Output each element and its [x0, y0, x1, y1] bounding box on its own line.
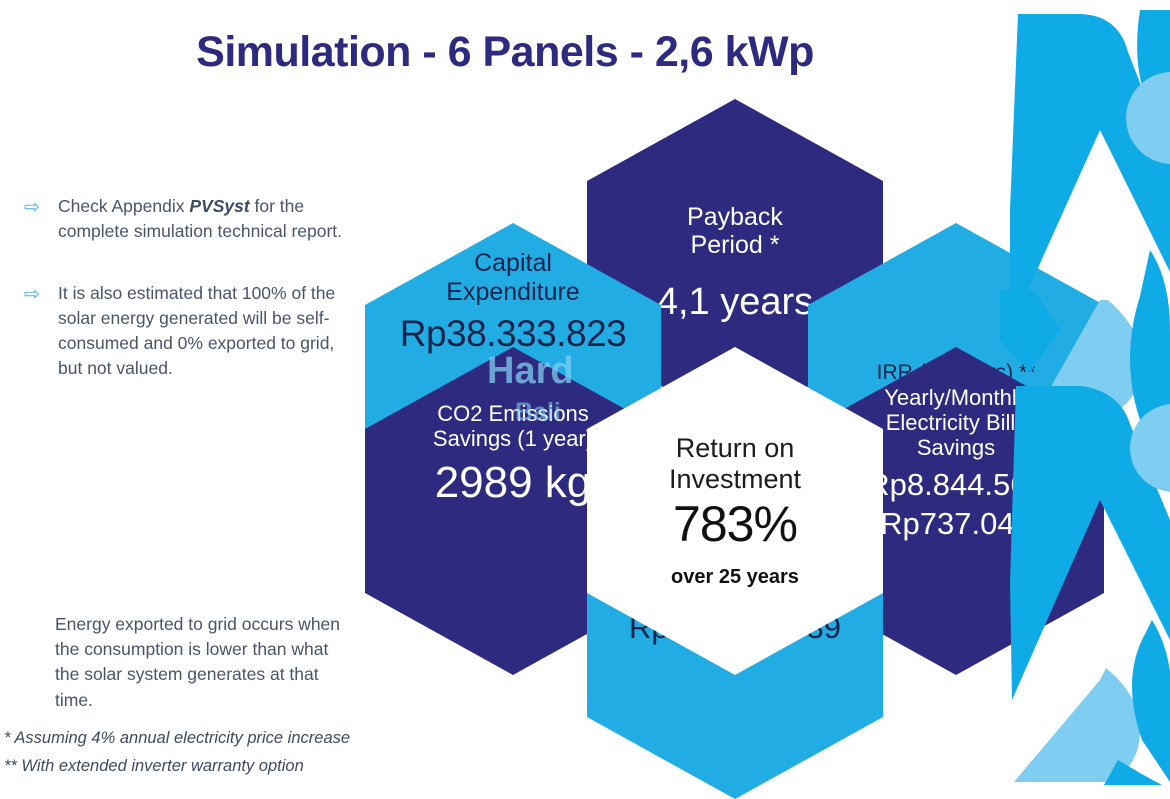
- hex-center-sub: over 25 years: [671, 566, 799, 589]
- decorative-chevron-graphic: [1000, 0, 1170, 785]
- hex-payback-label-line2: Period *: [691, 231, 780, 259]
- footnote-single-asterisk: * Assuming 4% annual electricity price i…: [4, 729, 350, 748]
- hex-bills-label-line3: Savings: [917, 435, 995, 460]
- note-text: Check Appendix PVSyst for the complete s…: [58, 194, 354, 244]
- note-export-explanation: Energy exported to grid occurs when the …: [55, 612, 355, 713]
- page-title: Simulation - 6 Panels - 2,6 kWp: [0, 28, 1010, 77]
- note-item-self-consumption: ⇨ It is also estimated that 100% of the …: [24, 281, 354, 380]
- hex-capex-label-line2: Expenditure: [446, 278, 579, 306]
- arrow-right-icon: ⇨: [24, 198, 50, 217]
- hex-co2-label: CO2 Emissions Savings (1 year): [433, 401, 593, 451]
- hex-payback-label: Payback Period *: [687, 203, 783, 260]
- arrow-right-icon: ⇨: [24, 285, 50, 304]
- hex-center-label: Return on Investment: [669, 433, 801, 495]
- hex-capex-label: Capital Expenditure: [446, 249, 579, 306]
- hex-center-label-line2: Investment: [669, 464, 801, 494]
- note-emphasis: PVSyst: [189, 196, 249, 216]
- hex-payback-label-line1: Payback: [687, 203, 783, 231]
- note-text: It is also estimated that 100% of the so…: [58, 281, 354, 380]
- hex-center-value: 783%: [673, 497, 797, 552]
- note-text-before: Check Appendix: [58, 196, 189, 216]
- hex-co2-label-line1: CO2 Emissions: [437, 401, 589, 426]
- hex-co2-label-line2: Savings (1 year): [433, 426, 593, 451]
- hex-co2-value: 2989 kg: [435, 459, 592, 507]
- hex-center-label-line1: Return on: [676, 433, 795, 463]
- note-item-appendix: ⇨ Check Appendix PVSyst for the complete…: [24, 194, 354, 244]
- hex-capex-label-line1: Capital: [474, 249, 552, 277]
- hex-payback-value: 4,1 years: [657, 282, 813, 324]
- footnote-double-asterisk: ** With extended inverter warranty optio…: [4, 757, 304, 776]
